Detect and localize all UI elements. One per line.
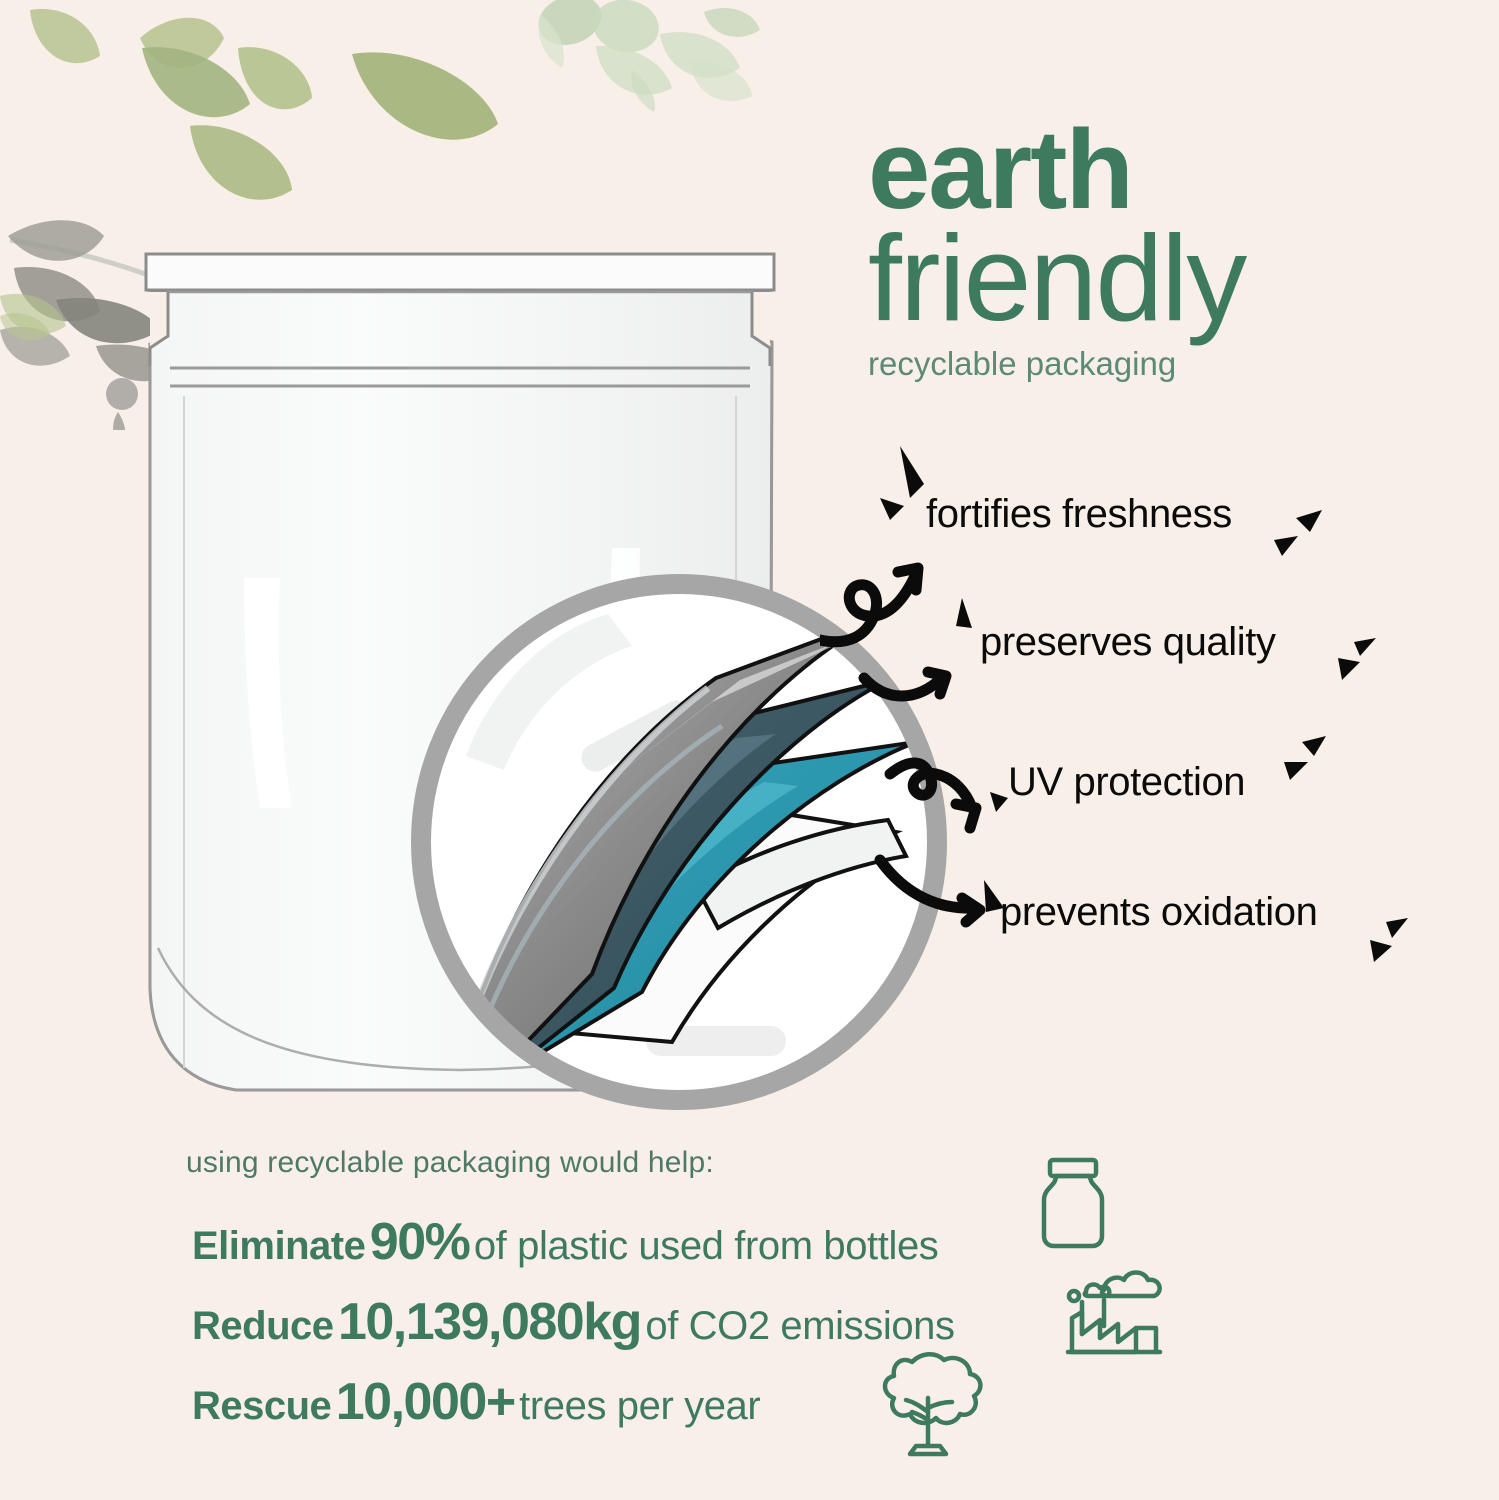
stat-rest: trees per year [519, 1384, 760, 1428]
bottle-icon [1036, 1156, 1110, 1250]
headline-block: earth friendly recyclable packaging [868, 118, 1488, 383]
stat-value: 90% [370, 1213, 470, 1271]
headline-line-2: friendly [868, 217, 1488, 339]
stat-row-eliminate: Eliminate 90% of plastic used from bottl… [192, 1212, 938, 1272]
stat-rest: of plastic used from bottles [474, 1224, 939, 1268]
headline-subtitle: recyclable packaging [868, 345, 1488, 383]
headline-line-1: earth [868, 118, 1488, 221]
stats-block: using recyclable packaging would help: E… [186, 1146, 1336, 1180]
stat-rest: of CO2 emissions [645, 1304, 954, 1348]
stat-value: 10,139,080kg [338, 1293, 641, 1351]
stat-verb: Rescue [192, 1384, 331, 1428]
feature-label-uv-protection: UV protection [1008, 760, 1245, 805]
tree-icon [860, 1346, 988, 1464]
infographic-canvas: earth friendly recyclable packaging fort… [0, 0, 1499, 1500]
stat-value: 10,000+ [336, 1373, 515, 1431]
feature-label-preserves-quality: preserves quality [980, 620, 1276, 665]
stats-intro: using recyclable packaging would help: [186, 1146, 1336, 1180]
stat-row-reduce: Reduce 10,139,080kg of CO2 emissions [192, 1292, 955, 1352]
factory-icon [1060, 1258, 1168, 1358]
feature-label-fortifies-freshness: fortifies freshness [926, 492, 1232, 537]
stat-verb: Eliminate [192, 1224, 365, 1268]
stat-row-rescue: Rescue 10,000+ trees per year [192, 1372, 760, 1432]
feature-label-prevents-oxidation: prevents oxidation [1000, 890, 1317, 935]
stat-verb: Reduce [192, 1304, 334, 1348]
